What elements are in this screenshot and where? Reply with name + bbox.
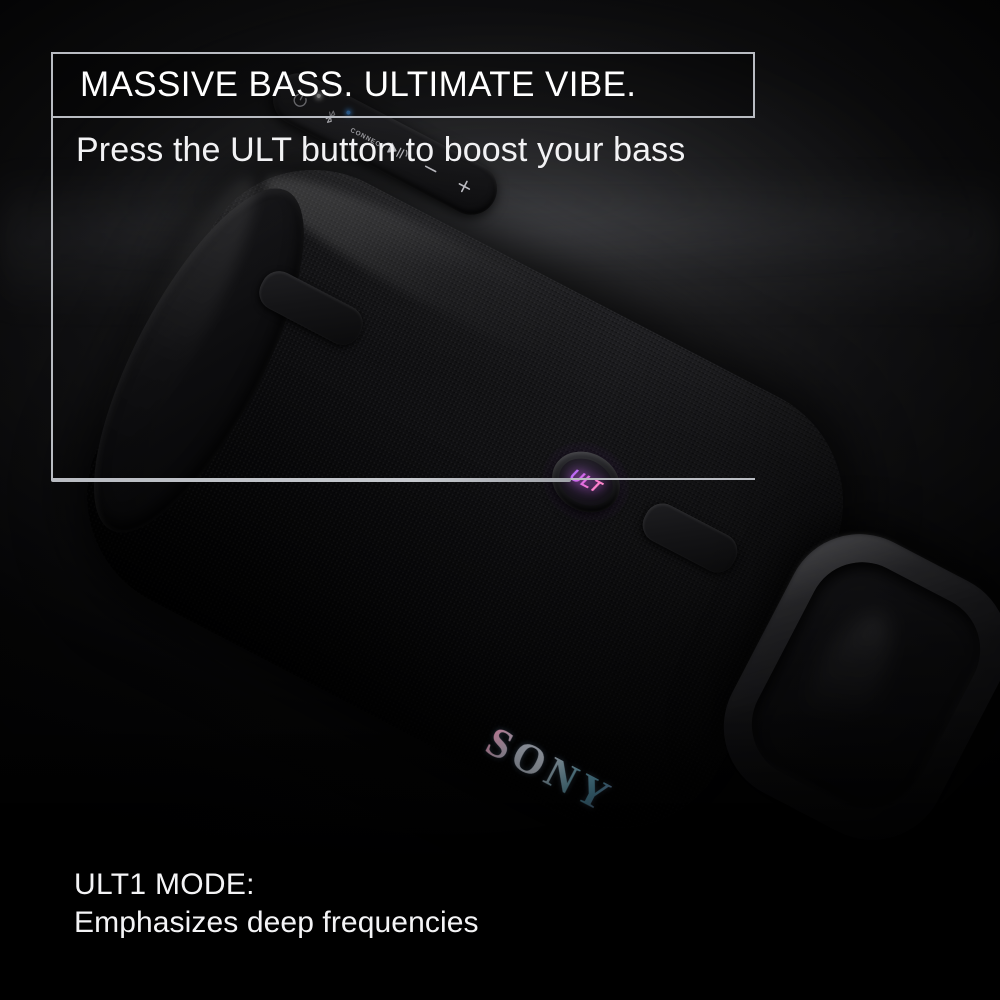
callout-leader-line <box>51 478 571 482</box>
caption-title: ULT1 MODE: <box>74 866 479 904</box>
subheadline-text: Press the ULT button to boost your bass <box>76 131 685 170</box>
headline-text: MASSIVE BASS. ULTIMATE VIBE. <box>53 65 636 105</box>
headline-box: MASSIVE BASS. ULTIMATE VIBE. <box>51 52 755 118</box>
background-bottom-fade <box>0 700 1000 1000</box>
caption-subtitle: Emphasizes deep frequencies <box>74 904 479 942</box>
promo-image: CONNECT ULT SONY <box>0 0 1000 1000</box>
caption-block: ULT1 MODE: Emphasizes deep frequencies <box>74 866 479 942</box>
